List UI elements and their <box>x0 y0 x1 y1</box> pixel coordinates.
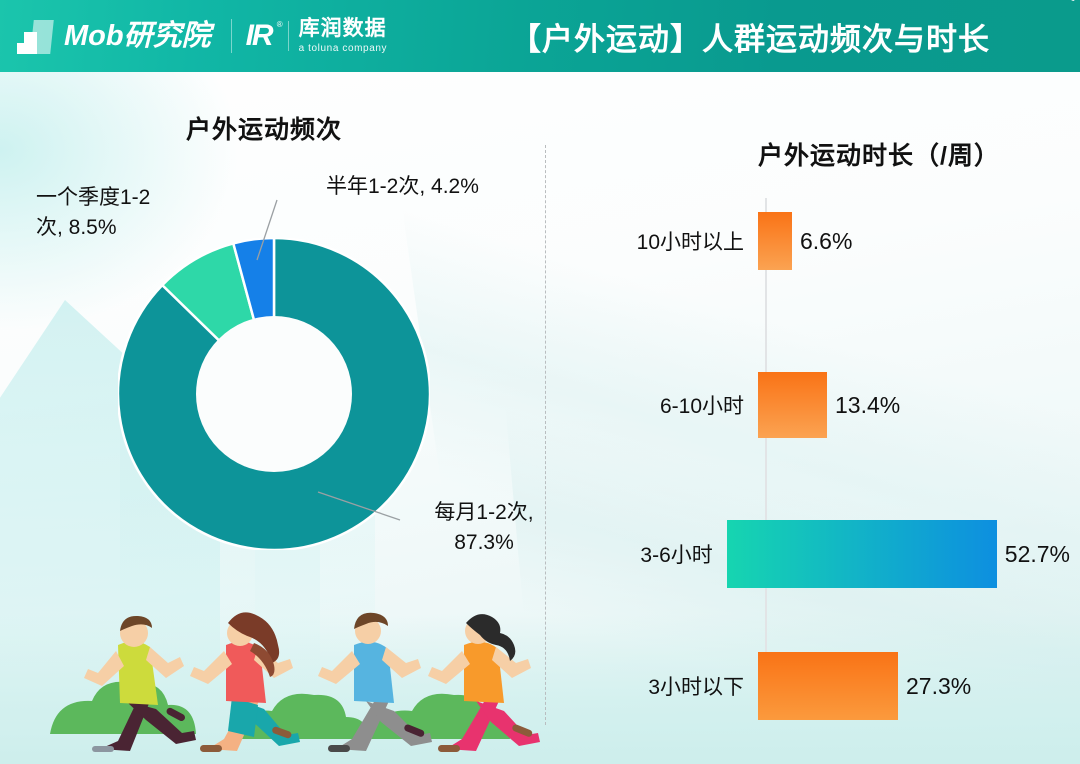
runners-svg <box>40 589 540 764</box>
bar-track: 52.7% <box>727 520 1070 588</box>
bar-value-label: 13.4% <box>835 392 900 419</box>
bar-fill[interactable] <box>758 372 827 438</box>
right-chart-title: 户外运动时长（/周） <box>758 136 1000 172</box>
pie-label-quarter: 一个季度1-2 次, 8.5% <box>36 183 196 244</box>
bar-fill[interactable] <box>758 212 792 270</box>
bar-category-label: 3-6小时 <box>600 539 727 569</box>
bar-category-label: 3小时以下 <box>600 671 758 701</box>
pie-label-half-year: 半年1-2次, 4.2% <box>326 172 556 202</box>
partner-name-cn: 库润数据 <box>299 17 388 41</box>
registered-mark-icon: ® <box>277 21 281 29</box>
bar-chart-row: 6-10小时13.4% <box>600 372 1070 438</box>
bar-category-label: 10小时以上 <box>600 226 758 256</box>
bar-chart-axis <box>765 198 767 720</box>
bar-value-label: 27.3% <box>906 673 971 700</box>
runner-figure <box>190 612 300 752</box>
bar-category-label: 6-10小时 <box>600 390 758 420</box>
partner-divider <box>288 21 289 51</box>
left-chart-title: 户外运动频次 <box>186 110 342 146</box>
pie-label-monthly: 每月1-2次, 87.3% <box>404 498 564 559</box>
bar-track: 6.6% <box>758 212 1070 270</box>
partner-logo-icon: IR ® <box>246 21 272 51</box>
mob-logo-icon <box>16 16 58 56</box>
bar-track: 27.3% <box>758 652 1070 720</box>
partner-name-en: a toluna company <box>299 42 388 55</box>
donut-hole <box>196 316 352 472</box>
donut-svg <box>118 238 430 550</box>
section-divider <box>545 145 546 725</box>
bar-track: 13.4% <box>758 372 1070 438</box>
outdoor-frequency-donut-chart <box>118 238 430 550</box>
partner-text-block: 库润数据 a toluna company <box>299 17 388 54</box>
partner-logo-text: IR <box>246 19 272 52</box>
bar-value-label: 52.7% <box>1005 541 1070 568</box>
bar-chart-row: 3-6小时52.7% <box>600 520 1070 588</box>
brand-name: Mob研究院 <box>64 22 211 51</box>
bar-fill[interactable] <box>727 520 997 588</box>
graduation-cap-icon <box>1064 0 1080 1</box>
runners-illustration <box>40 589 540 764</box>
bar-chart-row: 10小时以上6.6% <box>600 212 1070 270</box>
brand-logo: Mob研究院 <box>0 0 211 72</box>
slide-root: Mob研究院 IR ® 库润数据 a toluna company 【户外运动】… <box>0 0 1080 764</box>
partner-logo: IR ® 库润数据 a toluna company <box>246 17 388 54</box>
bar-chart-row: 3小时以下27.3% <box>600 652 1070 720</box>
bar-value-label: 6.6% <box>800 228 852 255</box>
brand-divider <box>231 19 232 53</box>
bar-fill[interactable] <box>758 652 898 720</box>
page-header: Mob研究院 IR ® 库润数据 a toluna company 【户外运动】… <box>0 0 1080 72</box>
outdoor-duration-bar-chart: 10小时以上6.6%6-10小时13.4%3-6小时52.7%3小时以下27.3… <box>600 190 1070 730</box>
